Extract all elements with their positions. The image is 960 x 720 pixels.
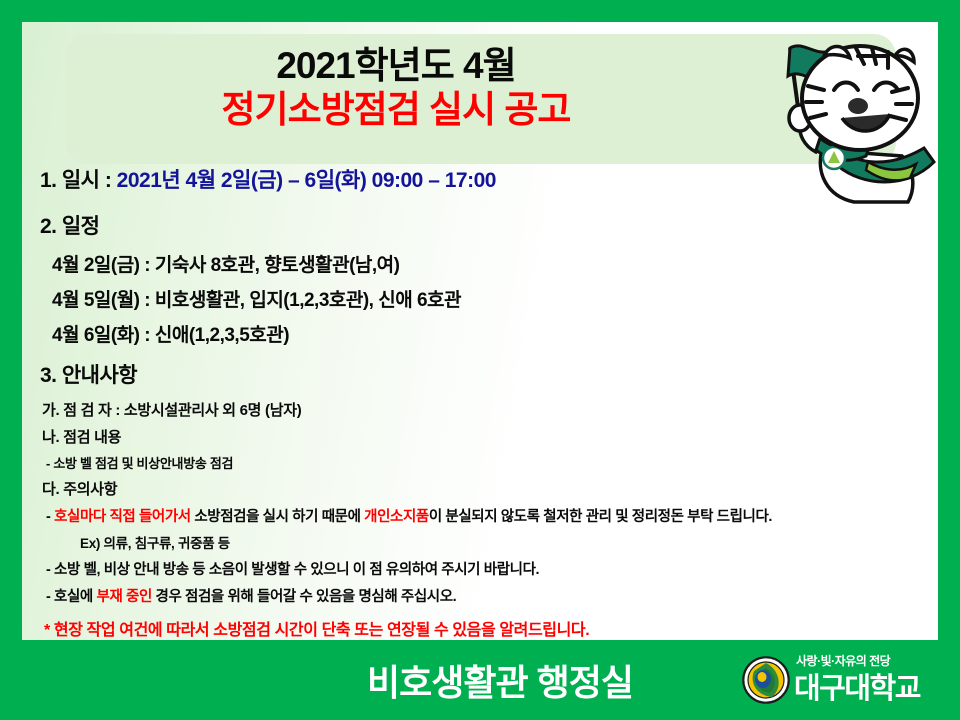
precaution-note-1: - 호실마다 직접 들어가서 소방점검을 실시 하기 때문에 개인소지품이 분실… bbox=[22, 505, 938, 526]
title-line-2: 정기소방점검 실시 공고 bbox=[66, 88, 726, 132]
note-1-highlight-1: 호실마다 직접 들어가서 bbox=[54, 509, 191, 525]
announcement-body: 1. 일시 : 2021년 4월 2일(금) – 6일(화) 09:00 – 1… bbox=[22, 164, 938, 640]
item-1-datetime: 1. 일시 : 2021년 4월 2일(금) – 6일(화) 09:00 – 1… bbox=[22, 164, 938, 194]
poster-root: 2021학년도 4월 정기소방점검 실시 공고 bbox=[0, 0, 960, 720]
schedule-line: 4월 5일(월) : 비호생활관, 입지(1,2,3호관), 신애 6호관 bbox=[22, 285, 938, 312]
schedule-line: 4월 6일(화) : 신애(1,2,3,5호관) bbox=[22, 320, 938, 347]
content-sheet: 2021학년도 4월 정기소방점검 실시 공고 bbox=[22, 22, 938, 640]
precaution-note-1-example: Ex) 의류, 침구류, 귀중품 등 bbox=[22, 532, 938, 552]
footer-band: 비호생활관 행정실 사랑·빛·자유의 전당 대구대학교 bbox=[0, 640, 960, 720]
inspector-line: 가. 점 검 자 : 소방시설관리사 외 6명 (남자) bbox=[22, 399, 938, 420]
title-line-1: 2021학년도 4월 bbox=[66, 44, 726, 88]
note-3-suffix: 경우 점검을 위해 들어갈 수 있음을 명심해 주십시오. bbox=[152, 589, 456, 605]
title-block: 2021학년도 4월 정기소방점검 실시 공고 bbox=[66, 44, 726, 132]
item-1-label: 1. 일시 : bbox=[40, 169, 117, 192]
note-1-highlight-2: 개인소지품 bbox=[364, 509, 429, 525]
inspection-content-detail: - 소방 벨 점검 및 비상안내방송 점검 bbox=[22, 453, 938, 472]
inspection-content-heading: 나. 점검 내용 bbox=[22, 426, 938, 447]
item-3-heading: 3. 안내사항 bbox=[22, 359, 938, 389]
university-name: 대구대학교 bbox=[794, 665, 920, 707]
precautions-heading: 다. 주의사항 bbox=[22, 478, 938, 499]
item-1-value: 2021년 4월 2일(금) – 6일(화) 09:00 – 17:00 bbox=[117, 169, 496, 192]
note-1-middle: 소방점검을 실시 하기 때문에 bbox=[191, 509, 364, 525]
university-logo-block: 사랑·빛·자유의 전당 대구대학교 bbox=[742, 648, 942, 710]
precaution-note-2: - 소방 벨, 비상 안내 방송 등 소음이 발생할 수 있으니 이 점 유의하… bbox=[22, 558, 938, 579]
issuing-office: 비호생활관 행정실 bbox=[300, 654, 700, 706]
item-2-heading: 2. 일정 bbox=[22, 210, 938, 240]
precaution-note-3: - 호실에 부재 중인 경우 점검을 위해 들어갈 수 있음을 명심해 주십시오… bbox=[22, 585, 938, 606]
note-1-prefix: - bbox=[46, 509, 54, 525]
daegu-university-emblem-icon bbox=[742, 656, 790, 704]
note-1-suffix: 이 분실되지 않도록 철저한 관리 및 정리정돈 부탁 드립니다. bbox=[429, 509, 772, 525]
precaution-note-star: * 현장 작업 여건에 따라서 소방점검 시간이 단축 또는 연장될 수 있음을… bbox=[22, 616, 938, 640]
note-3-prefix: - 호실에 bbox=[46, 589, 97, 605]
schedule-line: 4월 2일(금) : 기숙사 8호관, 향토생활관(남,여) bbox=[22, 250, 938, 277]
note-3-highlight: 부재 중인 bbox=[97, 589, 152, 605]
